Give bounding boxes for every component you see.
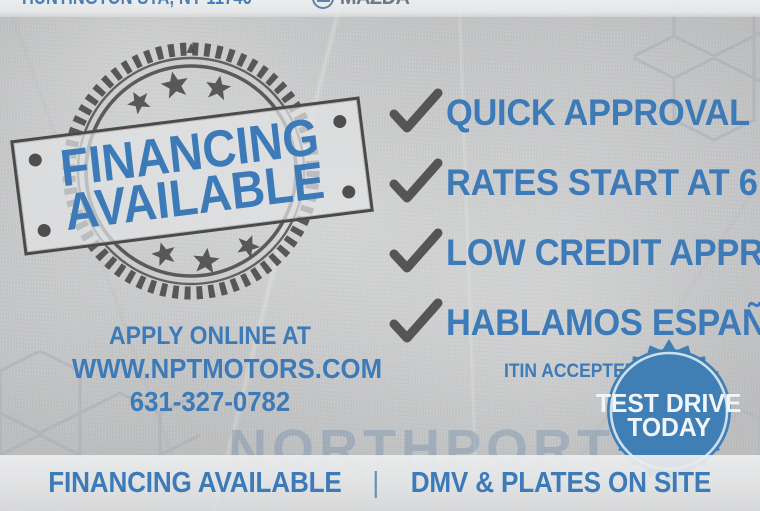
check-icon <box>388 298 446 348</box>
checklist-item: LOW CREDIT APPROVED <box>388 218 760 288</box>
advertisement-banner: HUNTINGTON STA, NY 11746 MAZDA <box>0 0 760 511</box>
check-icon <box>388 88 446 138</box>
bottom-bar-financing: FINANCING AVAILABLE <box>49 467 342 500</box>
check-icon <box>388 228 446 278</box>
checklist-item: RATES START AT 6.2% <box>388 148 760 218</box>
bottom-bar-dmv: DMV & PLATES ON SITE <box>410 467 710 500</box>
bottom-bar-divider: | <box>373 467 380 500</box>
website-url[interactable]: WWW.NPTMOTORS.COM <box>72 352 348 385</box>
check-icon <box>388 158 446 208</box>
checklist-item-label: QUICK APPROVAL <box>446 92 750 134</box>
checklist-item-label: RATES START AT 6.2% <box>446 162 760 204</box>
apply-online-label: APPLY ONLINE AT <box>72 322 348 352</box>
apply-online-block: APPLY ONLINE AT WWW.NPTMOTORS.COM 631-32… <box>60 322 360 418</box>
bottom-info-bar: FINANCING AVAILABLE | DMV & PLATES ON SI… <box>0 455 760 511</box>
dealer-address: HUNTINGTON STA, NY 11746 <box>22 0 252 10</box>
mazda-roundel-icon <box>312 0 334 9</box>
benefits-checklist: QUICK APPROVAL RATES START AT 6.2% LOW C… <box>388 78 760 358</box>
checklist-item: QUICK APPROVAL <box>388 78 760 148</box>
brand-logo-word: MAZDA <box>340 0 410 10</box>
brand-logo: MAZDA <box>312 0 411 10</box>
dealer-address-bar: HUNTINGTON STA, NY 11746 MAZDA <box>0 0 760 17</box>
checklist-item-label: LOW CREDIT APPROVED <box>446 232 760 274</box>
test-drive-line-2: TODAY <box>627 416 711 440</box>
financing-stamp: FINANCING AVAILABLE <box>60 40 322 302</box>
phone-number[interactable]: 631-327-0782 <box>72 385 348 418</box>
